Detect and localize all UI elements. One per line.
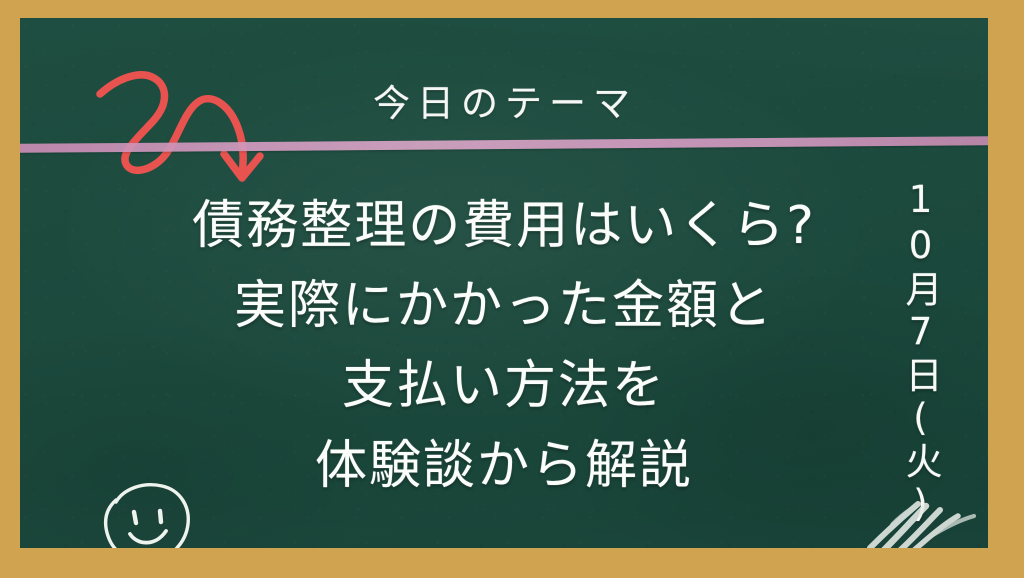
headline-line-1: 債務整理の費用はいくら? xyxy=(20,186,988,266)
smiley-face-icon xyxy=(94,476,202,548)
theme-title-block: 今日のテーマ xyxy=(20,84,988,125)
headline-line-3: 支払い方法を xyxy=(20,346,988,426)
page-title: 今日のテーマ xyxy=(366,84,637,125)
chalk-scribble-icon xyxy=(862,486,988,548)
headline-line-2: 実際にかかった金額と xyxy=(20,266,988,346)
curly-arrow-icon xyxy=(92,56,282,196)
chalkboard-thumbnail: 今日のテーマ 今日のテーマ 債務整理の費用はいくら? 実際にかかった金額と 支払… xyxy=(0,0,1024,578)
headline-block: 債務整理の費用はいくら? 実際にかかった金額と 支払い方法を 体験談から解説 xyxy=(20,186,988,506)
date-stamp: 10月7日(火) xyxy=(884,178,942,528)
chalkboard-surface: 今日のテーマ 今日のテーマ 債務整理の費用はいくら? 実際にかかった金額と 支払… xyxy=(20,18,988,548)
